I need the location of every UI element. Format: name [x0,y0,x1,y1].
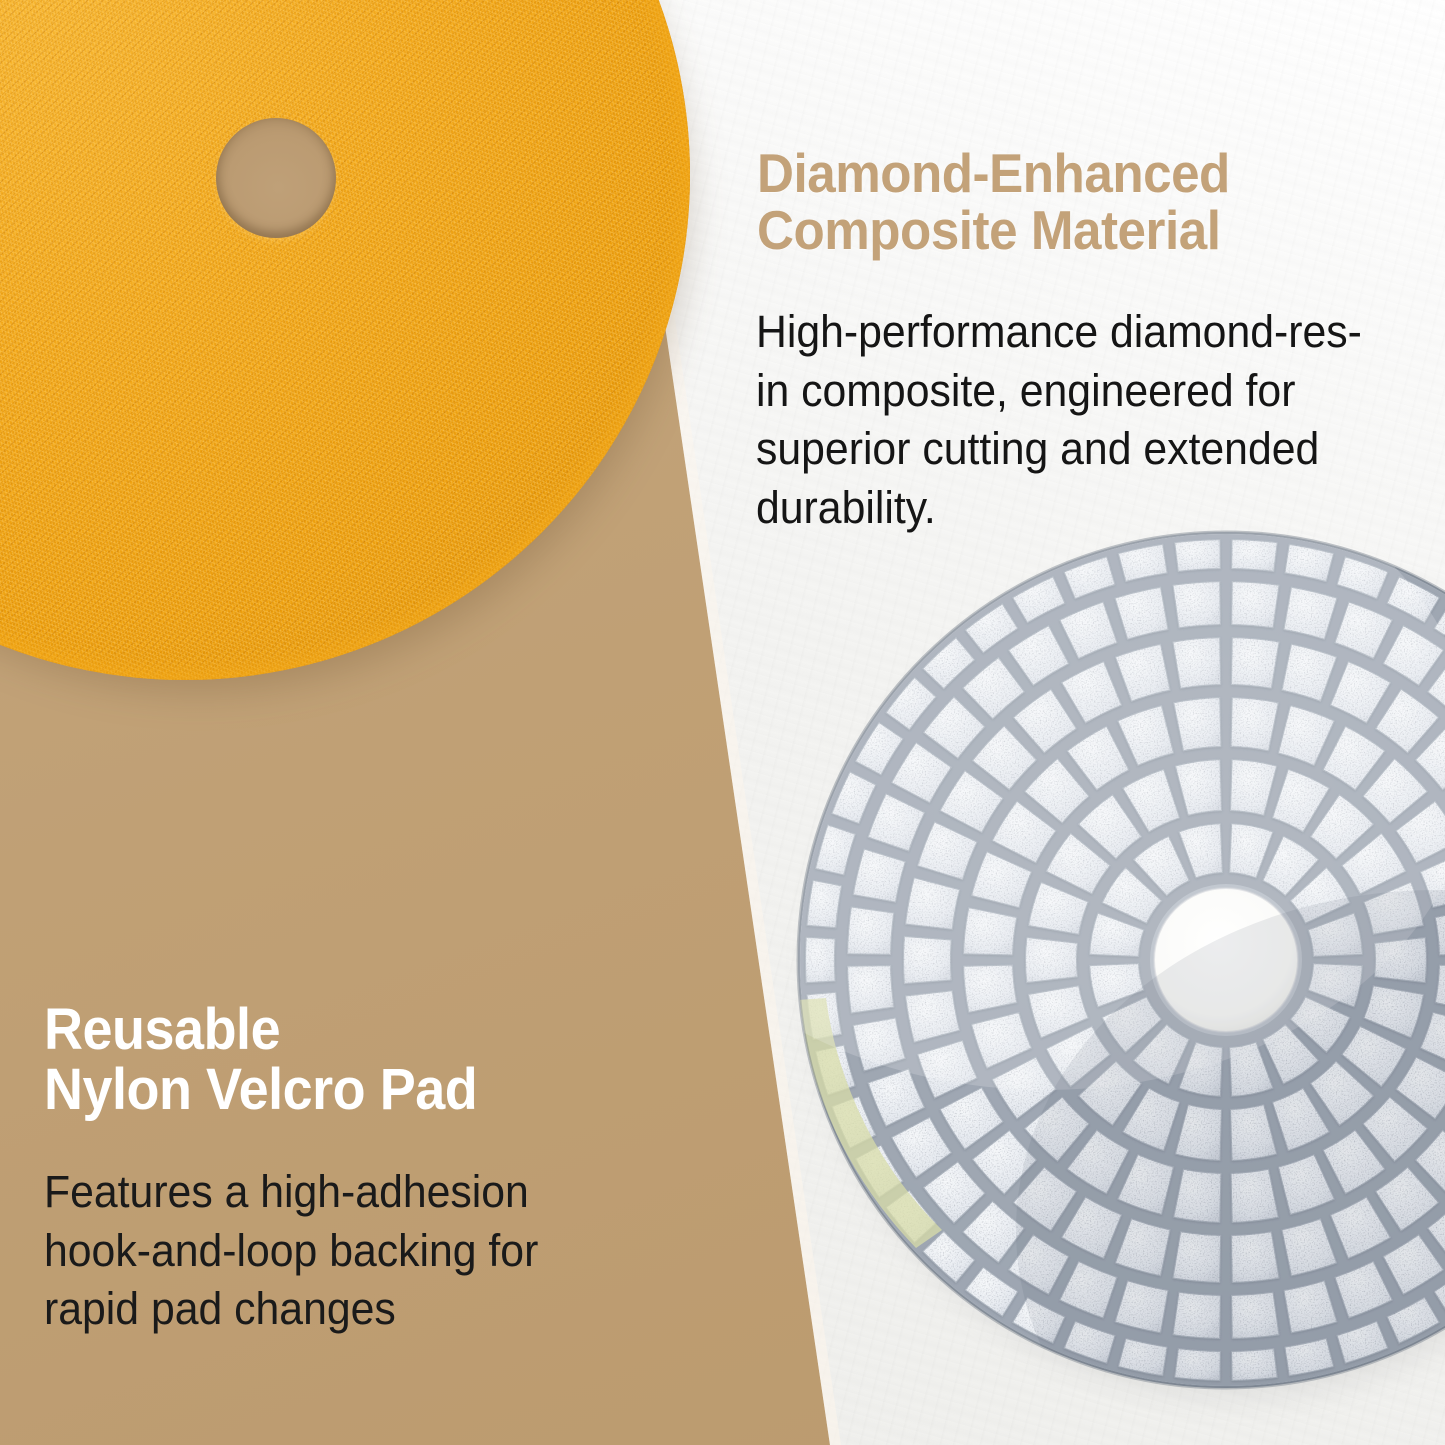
orange-pad-center-hole [216,118,336,238]
white-polishing-pad-image [796,530,1445,1390]
white-pad-disc [796,530,1445,1390]
orange-velcro-pad-image [0,0,690,680]
white-pad-svg [796,530,1445,1390]
bottom-left-heading: Reusable Nylon Velcro Pad [44,1000,732,1121]
top-right-heading: Diamond-Enhanced Composite Material [757,145,1408,259]
bottom-left-body-text: Features a high-adhesion hook-and-loop b… [44,1163,633,1339]
top-right-body-text: High-performance diamond-res- in composi… [756,303,1364,537]
infographic-canvas: Diamond-Enhanced Composite Material High… [0,0,1445,1445]
orange-pad-disc [0,0,690,680]
